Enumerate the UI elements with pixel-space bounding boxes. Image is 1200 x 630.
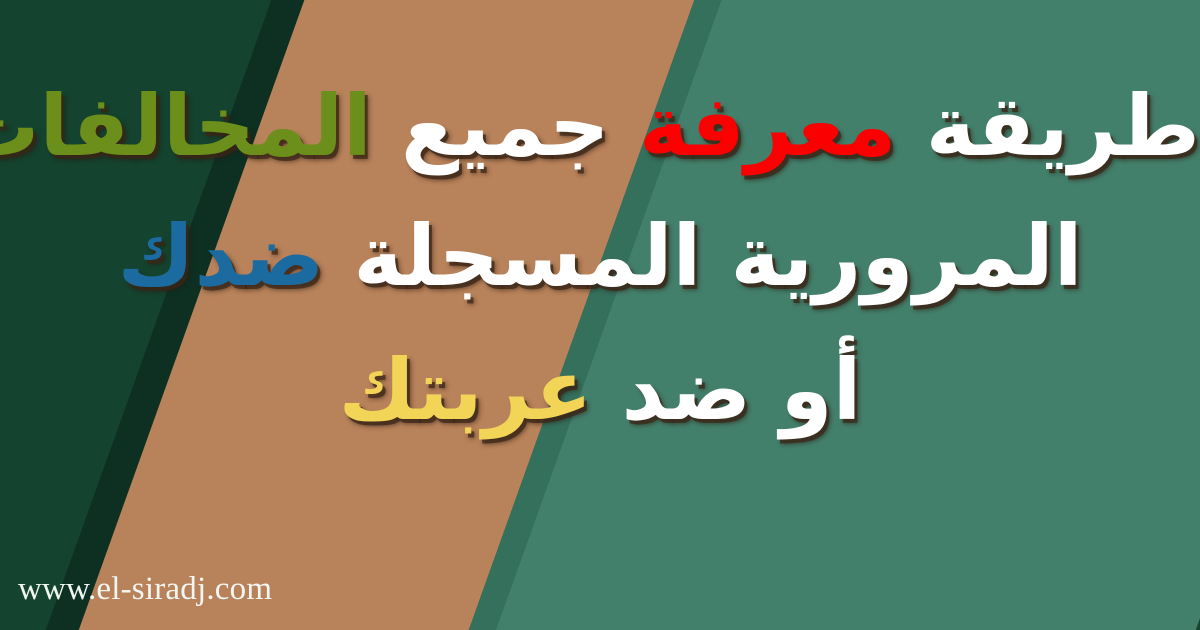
headline-line-1: طريقة معرفة جميع المخالفات [0,62,1200,190]
headline-word-diddak: ضدك [117,207,324,305]
headline-phrase-almururiya-almusajjala: المرورية المسجلة [353,207,1082,305]
thumbnail-canvas: طريقة معرفة جميع المخالفات المرورية المس… [0,0,1200,630]
site-url-watermark: www.el-siradj.com [18,571,272,608]
headline-phrase-aw-didd: أو ضد [621,341,861,439]
headline-block: طريقة معرفة جميع المخالفات المرورية المس… [0,62,1200,458]
headline-word-almukhalafat: المخالفات [0,77,372,175]
headline-line-3: أو ضد عربتك [0,322,1200,458]
headline-word-tariqa: طريقة [926,77,1200,175]
headline-line-2: المرورية المسجلة ضدك [0,190,1200,322]
headline-word-marifa: معرفة [639,77,897,175]
headline-word-jamie: جميع [401,77,610,175]
headline-word-arabatak: عربتك [339,341,593,439]
